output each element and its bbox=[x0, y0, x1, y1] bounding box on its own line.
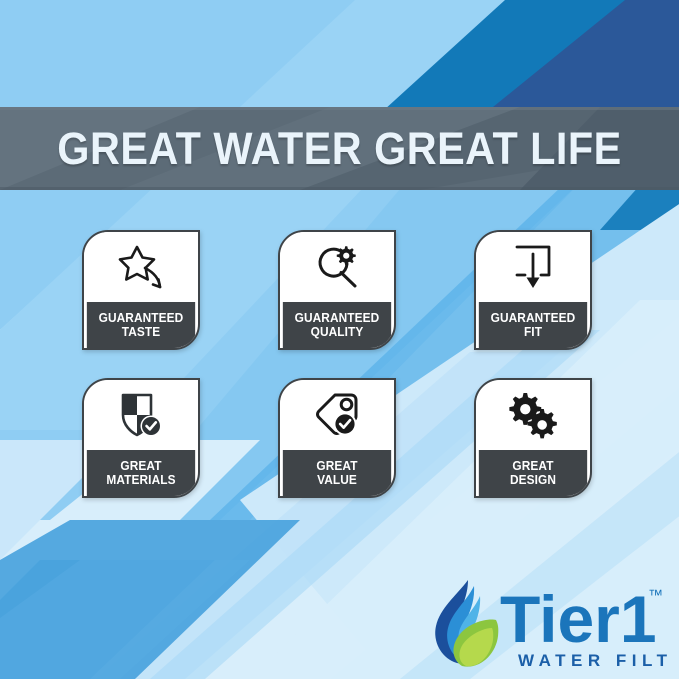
price-tag-check-icon bbox=[311, 391, 363, 439]
card-label-line2: MATERIALS bbox=[106, 473, 175, 487]
card-icon-area bbox=[84, 380, 198, 450]
logo-brand-text: Tier1 bbox=[500, 582, 657, 656]
water-drop-leaf-icon bbox=[428, 578, 500, 670]
card-label-line2: DESIGN bbox=[510, 473, 556, 487]
card-label: GREAT MATERIALS bbox=[87, 450, 195, 496]
feature-card[interactable]: GUARANTEED TASTE bbox=[82, 230, 200, 350]
card-icon-area bbox=[476, 380, 590, 450]
magnifier-gear-icon bbox=[311, 243, 363, 291]
card-label: GUARANTEED FIT bbox=[479, 302, 587, 348]
card-label: GUARANTEED TASTE bbox=[87, 302, 195, 348]
feature-card-grid: GUARANTEED TASTE GUARANTEED QUALITY bbox=[82, 230, 602, 498]
card-label-line1: GUARANTEED bbox=[295, 311, 380, 325]
shooting-star-icon bbox=[115, 244, 167, 290]
card-label-line1: GREAT bbox=[512, 459, 553, 473]
logo-trademark: ™ bbox=[648, 587, 663, 604]
card-label-line1: GREAT bbox=[120, 459, 161, 473]
card-label-line2: QUALITY bbox=[311, 325, 364, 339]
feature-card[interactable]: GREAT MATERIALS bbox=[82, 378, 200, 498]
card-icon-area bbox=[280, 380, 394, 450]
tier1-logo: Tier1 ™ WATER FILTERS bbox=[428, 578, 666, 674]
card-label-line2: VALUE bbox=[317, 473, 357, 487]
card-label: GREAT VALUE bbox=[283, 450, 391, 496]
card-label: GUARANTEED QUALITY bbox=[283, 302, 391, 348]
banner-title: GREAT WATER GREAT LIFE bbox=[27, 107, 652, 190]
logo-text-svg: Tier1 ™ WATER FILTERS bbox=[500, 580, 668, 674]
card-label-line1: GUARANTEED bbox=[491, 311, 576, 325]
card-icon-area bbox=[476, 232, 590, 302]
box-down-arrow-icon bbox=[510, 243, 556, 291]
card-label: GREAT DESIGN bbox=[479, 450, 587, 496]
card-icon-area bbox=[84, 232, 198, 302]
shield-check-icon bbox=[116, 391, 166, 439]
card-label-line1: GUARANTEED bbox=[99, 311, 184, 325]
feature-card[interactable]: GUARANTEED FIT bbox=[474, 230, 592, 350]
card-label-line2: TASTE bbox=[122, 325, 161, 339]
gears-icon bbox=[507, 391, 559, 439]
logo-tagline: WATER FILTERS bbox=[518, 651, 668, 670]
card-icon-area bbox=[280, 232, 394, 302]
card-label-line1: GREAT bbox=[316, 459, 357, 473]
feature-card[interactable]: GREAT DESIGN bbox=[474, 378, 592, 498]
headline-banner: GREAT WATER GREAT LIFE bbox=[0, 107, 679, 190]
feature-card[interactable]: GUARANTEED QUALITY bbox=[278, 230, 396, 350]
logo-wordmark: Tier1 ™ WATER FILTERS bbox=[500, 580, 668, 679]
card-label-line2: FIT bbox=[524, 325, 542, 339]
feature-card[interactable]: GREAT VALUE bbox=[278, 378, 396, 498]
